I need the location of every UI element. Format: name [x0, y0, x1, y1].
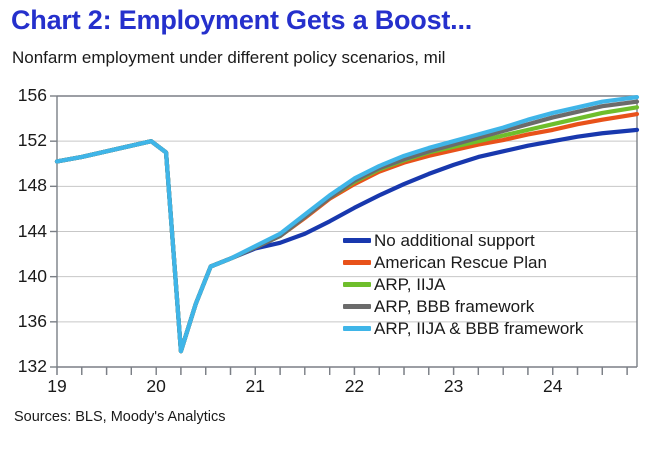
legend-item-label: ARP, IIJA — [374, 276, 446, 293]
legend-color-swatch — [343, 326, 371, 331]
x-axis-tick-label: 23 — [434, 376, 474, 397]
legend-color-swatch — [343, 304, 371, 309]
legend-color-swatch — [343, 282, 371, 287]
y-axis-tick-label: 144 — [5, 221, 47, 242]
chart-legend: No additional supportAmerican Rescue Pla… — [343, 229, 583, 339]
x-axis-tick-label: 19 — [37, 376, 77, 397]
chart-source-note: Sources: BLS, Moody's Analytics — [14, 409, 226, 425]
y-axis-tick-label: 148 — [5, 175, 47, 196]
legend-item-label: ARP, BBB framework — [374, 298, 534, 315]
x-axis-tick-label: 20 — [136, 376, 176, 397]
legend-item: ARP, IIJA — [343, 273, 583, 295]
x-axis-tick-label: 21 — [235, 376, 275, 397]
x-axis-tick-label: 24 — [533, 376, 573, 397]
legend-item: American Rescue Plan — [343, 251, 583, 273]
y-axis-tick-label: 132 — [5, 356, 47, 377]
y-axis-tick-label: 136 — [5, 311, 47, 332]
y-axis-tick-label: 152 — [5, 130, 47, 151]
legend-item-label: ARP, IIJA & BBB framework — [374, 320, 583, 337]
legend-item-label: No additional support — [374, 232, 535, 249]
y-axis-tick-label: 140 — [5, 266, 47, 287]
legend-item-label: American Rescue Plan — [374, 254, 547, 271]
legend-item: ARP, IIJA & BBB framework — [343, 317, 583, 339]
x-axis-tick-label: 22 — [334, 376, 374, 397]
legend-color-swatch — [343, 238, 371, 243]
y-axis-tick-label: 156 — [5, 85, 47, 106]
legend-color-swatch — [343, 260, 371, 265]
chart-container: Chart 2: Employment Gets a Boost... Nonf… — [0, 0, 657, 451]
legend-item: No additional support — [343, 229, 583, 251]
legend-item: ARP, BBB framework — [343, 295, 583, 317]
